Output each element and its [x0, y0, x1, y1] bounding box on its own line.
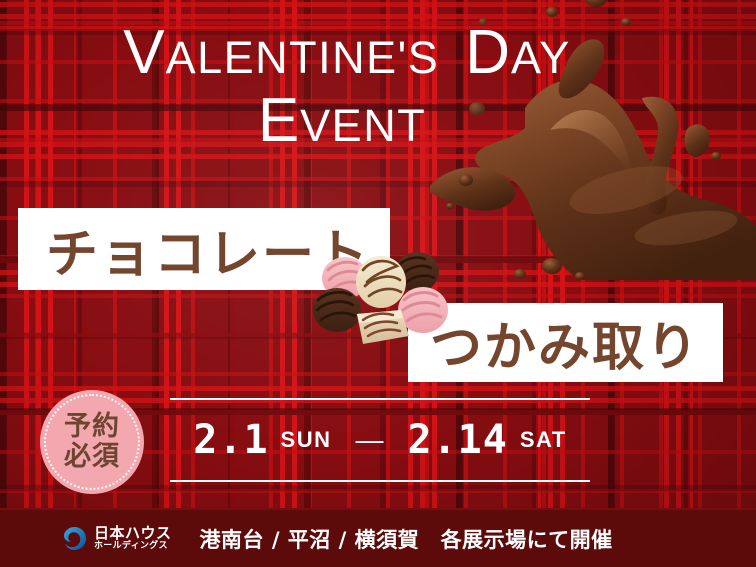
- end-date-weekday: SAT: [520, 427, 567, 453]
- chocolate-bonbons-icon: [305, 248, 457, 350]
- company-logo-text: 日本ハウス ホールディングス: [94, 525, 172, 552]
- valentines-event-banner: VALENTINE'SDAY EVENT チョコレート つかみ取り: [0, 0, 756, 567]
- start-date-weekday: SUN: [281, 427, 332, 453]
- company-name-main: 日本ハウス: [94, 525, 172, 541]
- reservation-required-badge: 予約 必須: [40, 390, 144, 494]
- date-separator: —: [356, 424, 384, 456]
- page-title: VALENTINE'SDAY EVENT: [0, 22, 680, 152]
- event-date-range: 2.1 SUN — 2.14 SAT: [170, 398, 590, 482]
- footer-bar: 日本ハウス ホールディングス 港南台 / 平沼 / 横須賀 各展示場にて開催: [0, 508, 756, 567]
- headline-v: V: [123, 18, 165, 87]
- nihon-house-swirl-logo-icon: [62, 526, 87, 551]
- headline-line-2: EVENT: [0, 90, 680, 152]
- badge-line-2: 必須: [64, 442, 120, 472]
- company-logo: 日本ハウス ホールディングス: [62, 525, 172, 552]
- date-row: 2.1 SUN — 2.14 SAT: [170, 398, 590, 482]
- start-date-number: 2.1: [193, 417, 268, 463]
- headline-line-1: VALENTINE'SDAY: [0, 22, 680, 84]
- date-rule-bottom: [170, 480, 590, 482]
- end-date-number: 2.14: [408, 417, 508, 463]
- badge-line-1: 予約: [64, 412, 120, 442]
- venue-list: 港南台 / 平沼 / 横須賀 各展示場にて開催: [200, 524, 613, 554]
- company-name-sub: ホールディングス: [94, 541, 172, 551]
- grab-label-text: つかみ取り: [430, 305, 700, 380]
- headline-d: D: [465, 18, 511, 87]
- headline-e: E: [258, 86, 300, 155]
- headline-alentines: ALENTINE'S: [166, 32, 440, 83]
- headline-vent: VENT: [300, 100, 426, 151]
- headline-ay: AY: [511, 32, 571, 83]
